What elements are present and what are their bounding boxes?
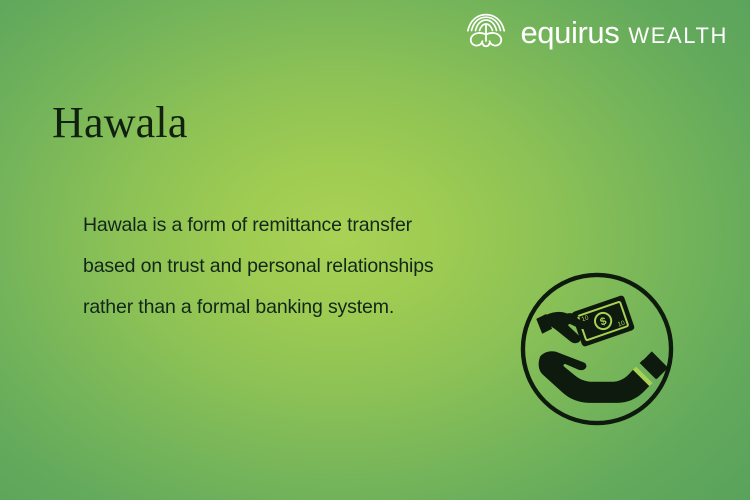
slide-canvas: equirus WEALTH Hawala Hawala is a form o…: [0, 0, 750, 500]
body-line: rather than a formal banking system.: [83, 287, 513, 328]
page-title: Hawala: [52, 100, 188, 146]
body-line: Hawala is a form of remittance transfer: [83, 205, 513, 246]
body-text: Hawala is a form of remittance transfer …: [83, 205, 513, 328]
receiving-hand: [539, 351, 668, 403]
hands-exchanging-money-icon: $ 10 10: [518, 270, 676, 428]
icon-artwork: $ 10 10: [536, 296, 668, 403]
brand-subname: WEALTH: [628, 25, 728, 47]
brand-name: equirus: [520, 17, 619, 48]
banyan-tree-logo-icon: [463, 12, 509, 52]
body-line: based on trust and personal relationship…: [83, 246, 513, 287]
brand-lockup: equirus WEALTH: [463, 10, 728, 54]
brand-wordmark: equirus WEALTH: [520, 17, 728, 48]
